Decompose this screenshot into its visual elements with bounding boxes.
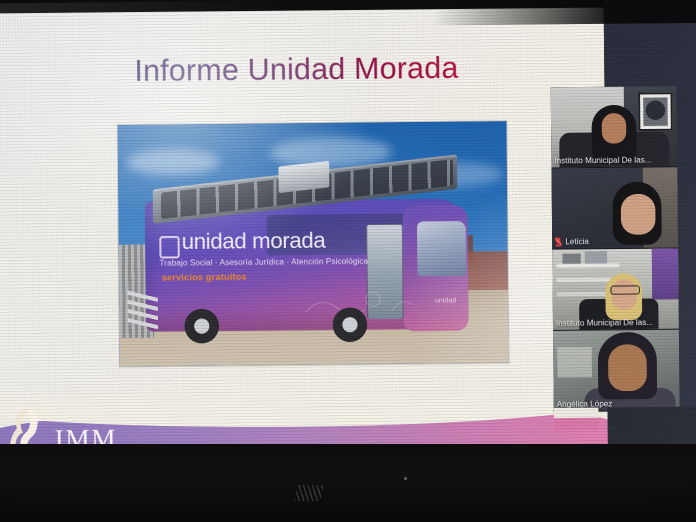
- participant-name-text: Leticia: [565, 237, 589, 246]
- bus-free-services-text: servicios gratuitos: [162, 272, 247, 283]
- participant-tile[interactable]: Instituto Municipal De las...: [551, 86, 678, 168]
- participant-name-label: Instituto Municipal De las...: [556, 318, 653, 328]
- participant-tile[interactable]: Angélica López: [553, 330, 680, 412]
- bezel-speck: [404, 477, 407, 480]
- participant-name-text: Instituto Municipal De las...: [554, 155, 651, 165]
- bus-body: unidad morada Trabajo Social · Asesoría …: [145, 199, 463, 332]
- screenshot-root: Informe Unidad Morada: [0, 0, 696, 522]
- bus-wheel: [333, 307, 368, 342]
- slide-edge-strip-pink: [554, 418, 599, 431]
- bus-wheel: [184, 309, 219, 344]
- bus-rear-text: unidad: [435, 297, 456, 304]
- participant-name-label: Leticia: [555, 237, 589, 246]
- participant-tile[interactable]: Instituto Municipal De las...: [552, 248, 679, 330]
- sidebar-top-filler: [604, 0, 696, 87]
- monitor-screen: Informe Unidad Morada: [0, 0, 696, 465]
- bezel-lower-sheen: [0, 444, 696, 522]
- mic-muted-icon: [555, 237, 562, 246]
- participant-tile[interactable]: Leticia: [551, 167, 678, 249]
- bezel-reflection-marks: [294, 485, 323, 501]
- shared-slide[interactable]: Informe Unidad Morada: [0, 8, 613, 466]
- slide-title: Informe Unidad Morada: [134, 52, 458, 90]
- participant-name-text: Instituto Municipal De las...: [556, 318, 653, 328]
- participant-tile-list: Instituto Municipal De las... Leticia: [551, 86, 696, 412]
- zoom-participant-sidebar: Instituto Municipal De las... Leticia: [604, 0, 696, 459]
- bus-brand-text: unidad morada: [182, 229, 326, 255]
- participant-name-label: Instituto Municipal De las...: [554, 155, 651, 165]
- unidad-morada-bus-photo: unidad morada Trabajo Social · Asesoría …: [118, 121, 509, 366]
- bus-windshield: [417, 221, 466, 276]
- unidad-morada-logo-icon: [159, 236, 180, 259]
- bus-subtitle-text: Trabajo Social · Asesoría Jurídica · Ate…: [159, 257, 368, 268]
